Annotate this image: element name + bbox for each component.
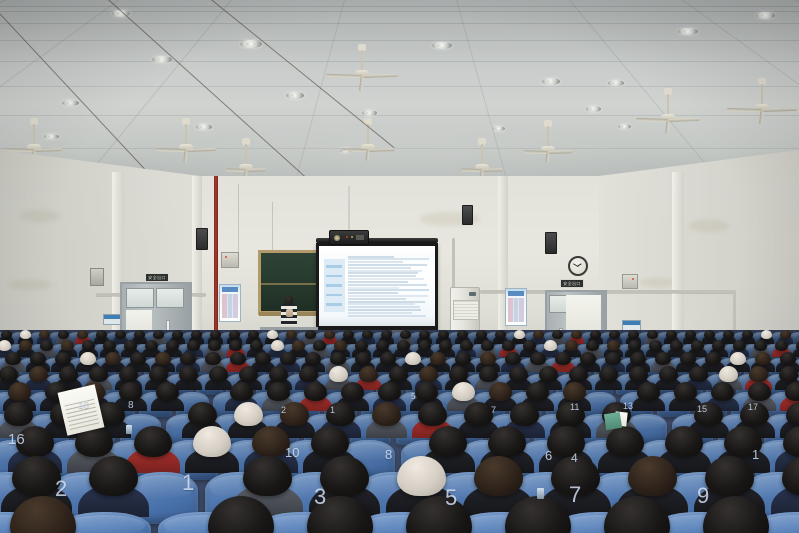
fan-blade [368,148,395,152]
student-head [229,330,240,339]
student-head [647,330,658,339]
student-head [250,340,263,351]
slide-text-line [348,309,421,311]
recessed-downlight [492,126,505,131]
student-head [324,330,335,339]
student-head [533,330,544,339]
student-head [187,340,200,351]
student-head [355,352,371,365]
student-head [733,340,746,351]
slide-text-line [348,306,420,308]
student-head [267,382,290,401]
student-head [655,352,671,365]
fan-blade [365,150,369,161]
student-head [77,330,88,339]
student-head [149,366,168,382]
student-head [628,456,677,496]
seat-number: 15 [697,405,707,414]
student-head [689,366,708,382]
slide-text-line [348,267,411,269]
student-head [449,366,468,382]
student-head [234,402,263,426]
ceiling-grid-line [0,61,799,62]
student-head [205,352,221,365]
slide-text-line [348,315,426,317]
fan-rod [761,84,763,106]
recessed-downlight [618,124,631,129]
student-head [8,382,31,401]
student-head [705,456,754,496]
slide-text-line [348,287,399,289]
slide-text-line [348,275,416,277]
student-head [119,382,142,401]
student-head [761,330,772,339]
slide-nav-item [326,303,342,306]
ceiling [0,0,799,190]
lecturer [281,296,297,330]
student-head [479,366,498,382]
student-head [179,366,198,382]
student-head [586,340,599,351]
wall-stain [8,280,52,290]
student-head [124,340,137,351]
student-head [230,352,246,365]
seat-number: 8 [385,448,392,461]
student-head [607,340,620,351]
student-head [489,382,512,401]
student-head [89,456,138,496]
student-head [58,330,69,339]
recessed-downlight [432,42,452,49]
projection-screen-frame [316,243,438,335]
student-head [415,382,438,401]
slide-nav-item [326,265,342,268]
seat-number: 4 [571,452,578,464]
student-head [419,330,430,339]
fan-blade [668,118,700,122]
ceiling-grid-line [0,23,799,24]
student-head [400,330,411,339]
student-head [0,340,11,351]
slide-text-line [348,264,427,266]
slide-text-line [348,312,412,314]
fan-rod [185,124,187,146]
wall-poster-left [219,284,241,322]
student-head [397,456,446,496]
ceiling-fan [325,44,399,90]
auditorium-seating: 16108212110835576791113151714 [0,330,799,533]
student-head [119,366,138,382]
exit-sign-left-text: 安全出口 [148,276,166,280]
student-head [30,352,46,365]
student-head [334,340,347,351]
fan-rod [481,144,483,166]
recessed-downlight [608,80,624,86]
student-head [685,330,696,339]
student-head [397,340,410,351]
student-head [305,330,316,339]
slide-nav-item [326,275,342,278]
student-head [455,352,471,365]
student-head [193,426,231,457]
seat-number: 7 [569,484,581,506]
seat-number: 1 [182,472,194,494]
student-head [571,330,582,339]
seat-number: 13 [623,402,633,411]
recessed-downlight [240,40,262,48]
student-head [665,426,703,457]
student-head [145,340,158,351]
student-head [628,330,639,339]
fan-blade [186,148,216,152]
student-head [565,340,578,351]
loudspeaker-ceiling-right [462,205,473,225]
seat-number: 3 [314,486,326,508]
recessed-downlight [678,28,698,35]
slide-text-line [348,270,422,272]
student-head [606,426,644,457]
seat-number: 6 [545,449,552,462]
seat-number: 10 [78,401,89,411]
fan-rod [547,126,549,148]
student-head [130,352,146,365]
student-head [481,340,494,351]
fan-blade [762,108,797,112]
student-head [329,366,348,382]
wall-stain [689,220,729,232]
student-head [609,330,620,339]
student-head [80,352,96,365]
fan-blade [665,120,669,133]
student-head [748,382,771,401]
fan-blade [156,148,186,152]
student-head [452,382,475,401]
student-head [304,382,327,401]
student-head [359,366,378,382]
student-head [649,340,662,351]
fan-blade [759,110,763,125]
slide-nav-item [326,284,342,287]
student-head [439,340,452,351]
held-booklet [604,412,622,430]
student-head [82,340,95,351]
student-head [730,352,746,365]
student-head [172,330,183,339]
recessed-downlight [362,110,377,116]
student-head [61,340,74,351]
exit-sign-right-text: 安全出口 [563,282,581,286]
student-head [711,382,734,401]
seat-number: 16 [8,432,25,447]
slide-text-line [348,272,418,274]
slide-text-line [348,303,415,305]
lecture-hall-photo: 安全出口 安全出口 [0,0,799,533]
student-head [674,382,697,401]
student-head [166,340,179,351]
student-head [754,340,767,351]
wall-stain [20,210,60,222]
student-head [156,382,179,401]
slide-text-line [348,295,428,297]
seat-number: 11 [570,403,579,412]
student-head [505,352,521,365]
student-head [341,382,364,401]
seat-number: 2 [281,406,286,415]
student-head [749,366,768,382]
recessed-downlight [542,78,560,85]
student-head [320,456,369,496]
wall-clock [568,256,588,276]
slide-text-line [348,261,403,263]
student-head [380,352,396,365]
student-head [599,366,618,382]
student-head [362,330,373,339]
student-head [563,382,586,401]
student-head [474,456,523,496]
recessed-downlight [286,92,304,99]
student-head [4,402,33,426]
student-head [430,352,446,365]
student-head [429,426,467,457]
fan-blade [524,150,548,154]
fan-rod [667,94,669,116]
student-head [343,330,354,339]
student-head [544,340,557,351]
student-head [629,366,648,382]
seat-number: 17 [748,403,758,412]
student-head [313,340,326,351]
student-head [539,366,558,382]
student-head [89,366,108,382]
student-head [779,366,798,382]
ceiling-fan [635,88,701,134]
wall-stain [639,278,675,287]
seat-number: 7 [491,406,496,415]
student-head [267,330,278,339]
student-head [780,330,791,339]
recessed-downlight [62,100,79,106]
student-head [134,330,145,339]
student-head [514,330,525,339]
ceiling-grid-line [0,6,799,7]
fan-blade [183,150,187,163]
seat-number: 5 [411,393,415,401]
student-head [134,426,172,457]
student-head [153,330,164,339]
recessed-downlight [756,12,775,19]
student-head [271,340,284,351]
ceiling-grid-line [0,148,799,149]
student-head [20,330,31,339]
phone-screen [126,425,132,434]
student-head [389,366,408,382]
student-head [381,330,392,339]
student-head [405,352,421,365]
student-head [330,352,346,365]
student-head [55,352,71,365]
student-head [19,340,32,351]
student-head [105,352,121,365]
student-head [208,340,221,351]
student-head [418,340,431,351]
seat-number: 9 [697,485,709,507]
student-head [637,382,660,401]
seat-number: 5 [445,487,457,509]
student-head [209,366,228,382]
student-head [555,352,571,365]
seat-number: 1 [330,406,335,415]
student-head [464,402,493,426]
student-head [480,352,496,365]
wall-conduit [452,238,455,292]
student-head [476,330,487,339]
student-head [742,330,753,339]
fan-blade [359,76,364,91]
seat-number: 8 [128,401,134,411]
student-head [509,366,528,382]
red-fire-pipe [214,176,218,344]
student-head [580,352,596,365]
slide-text-line [348,298,406,300]
emergency-box-left [90,268,104,286]
student-head [230,382,253,401]
fan-blade [636,118,668,122]
student-head [0,366,18,382]
student-head [311,426,349,457]
student-head [457,330,468,339]
fan-blade [727,108,762,112]
student-head [286,330,297,339]
projector [329,230,369,245]
wall-conduit [586,290,736,293]
fan-rod [33,124,35,146]
student-head [775,340,788,351]
student-head [438,330,449,339]
student-head [155,352,171,365]
student-head [630,352,646,365]
student-head [248,330,259,339]
slide-text-line [348,258,429,260]
student-head [5,352,21,365]
electrical-box-left [221,252,239,268]
slide-nav-item [326,294,342,297]
student-head [552,330,563,339]
slide-text-line [348,256,394,258]
student-head [670,340,683,351]
fan-blade [226,168,246,172]
student-head [372,402,401,426]
student-head [243,456,292,496]
slide-text-line [348,278,424,280]
student-head [39,330,50,339]
ceiling-grid-line [0,40,799,41]
student-head [188,402,217,426]
seat-number: 10 [285,446,299,459]
fan-blade [34,148,62,152]
student-head [269,366,288,382]
student-head [280,352,296,365]
student-head [115,330,126,339]
fan-blade [545,152,549,162]
student-head [704,330,715,339]
student-head [755,352,771,365]
student-head [502,340,515,351]
student-head [705,352,721,365]
ceiling-grid-line [0,86,799,87]
student-head [229,340,242,351]
student-head [1,330,12,339]
seat-number: 2 [55,478,67,500]
student-head [530,352,546,365]
student-head [305,352,321,365]
student-head [96,330,107,339]
student-head [103,340,116,351]
student-head [292,340,305,351]
student-head [680,352,696,365]
student-head [40,340,53,351]
student-head [210,330,221,339]
student-head [526,382,549,401]
exit-sign-right: 安全出口 [560,279,584,288]
wall-crack [272,202,273,256]
student-head [605,352,621,365]
student-head [488,426,526,457]
student-head [723,330,734,339]
student-head [691,340,704,351]
ceiling-fan [726,78,798,124]
slide-text-line [348,292,398,294]
student-head [180,352,196,365]
student-head [419,366,438,382]
student-head [255,352,271,365]
student-head [547,426,585,457]
student-head [378,382,401,401]
ceiling-fan [155,118,217,164]
fan-blade [326,74,362,78]
projector-mount [348,186,350,230]
student-head [510,402,539,426]
student-head [712,340,725,351]
student-head [569,366,588,382]
seat-number: 1 [752,448,759,461]
fan-blade [548,150,572,154]
slide-text-line [348,284,427,286]
fan-rod [361,50,363,72]
student-head [780,352,796,365]
exit-sign-left: 安全出口 [145,273,169,282]
student-head [239,366,258,382]
wall-poster-right [505,288,527,326]
fan-blade [246,168,266,172]
projection-screen [319,246,435,326]
student-head [299,366,318,382]
student-head [590,330,601,339]
student-head [460,340,473,351]
student-head [628,340,641,351]
student-head [418,402,447,426]
student-head [191,330,202,339]
recessed-downlight [152,56,172,63]
student-head [29,366,48,382]
student-head [719,366,738,382]
fan-blade [362,74,398,78]
fan-blade [461,168,482,172]
slide-text-line [348,289,429,291]
phone-screen [537,488,544,499]
student-head [495,330,506,339]
student-head [523,340,536,351]
fan-blade [482,168,503,172]
